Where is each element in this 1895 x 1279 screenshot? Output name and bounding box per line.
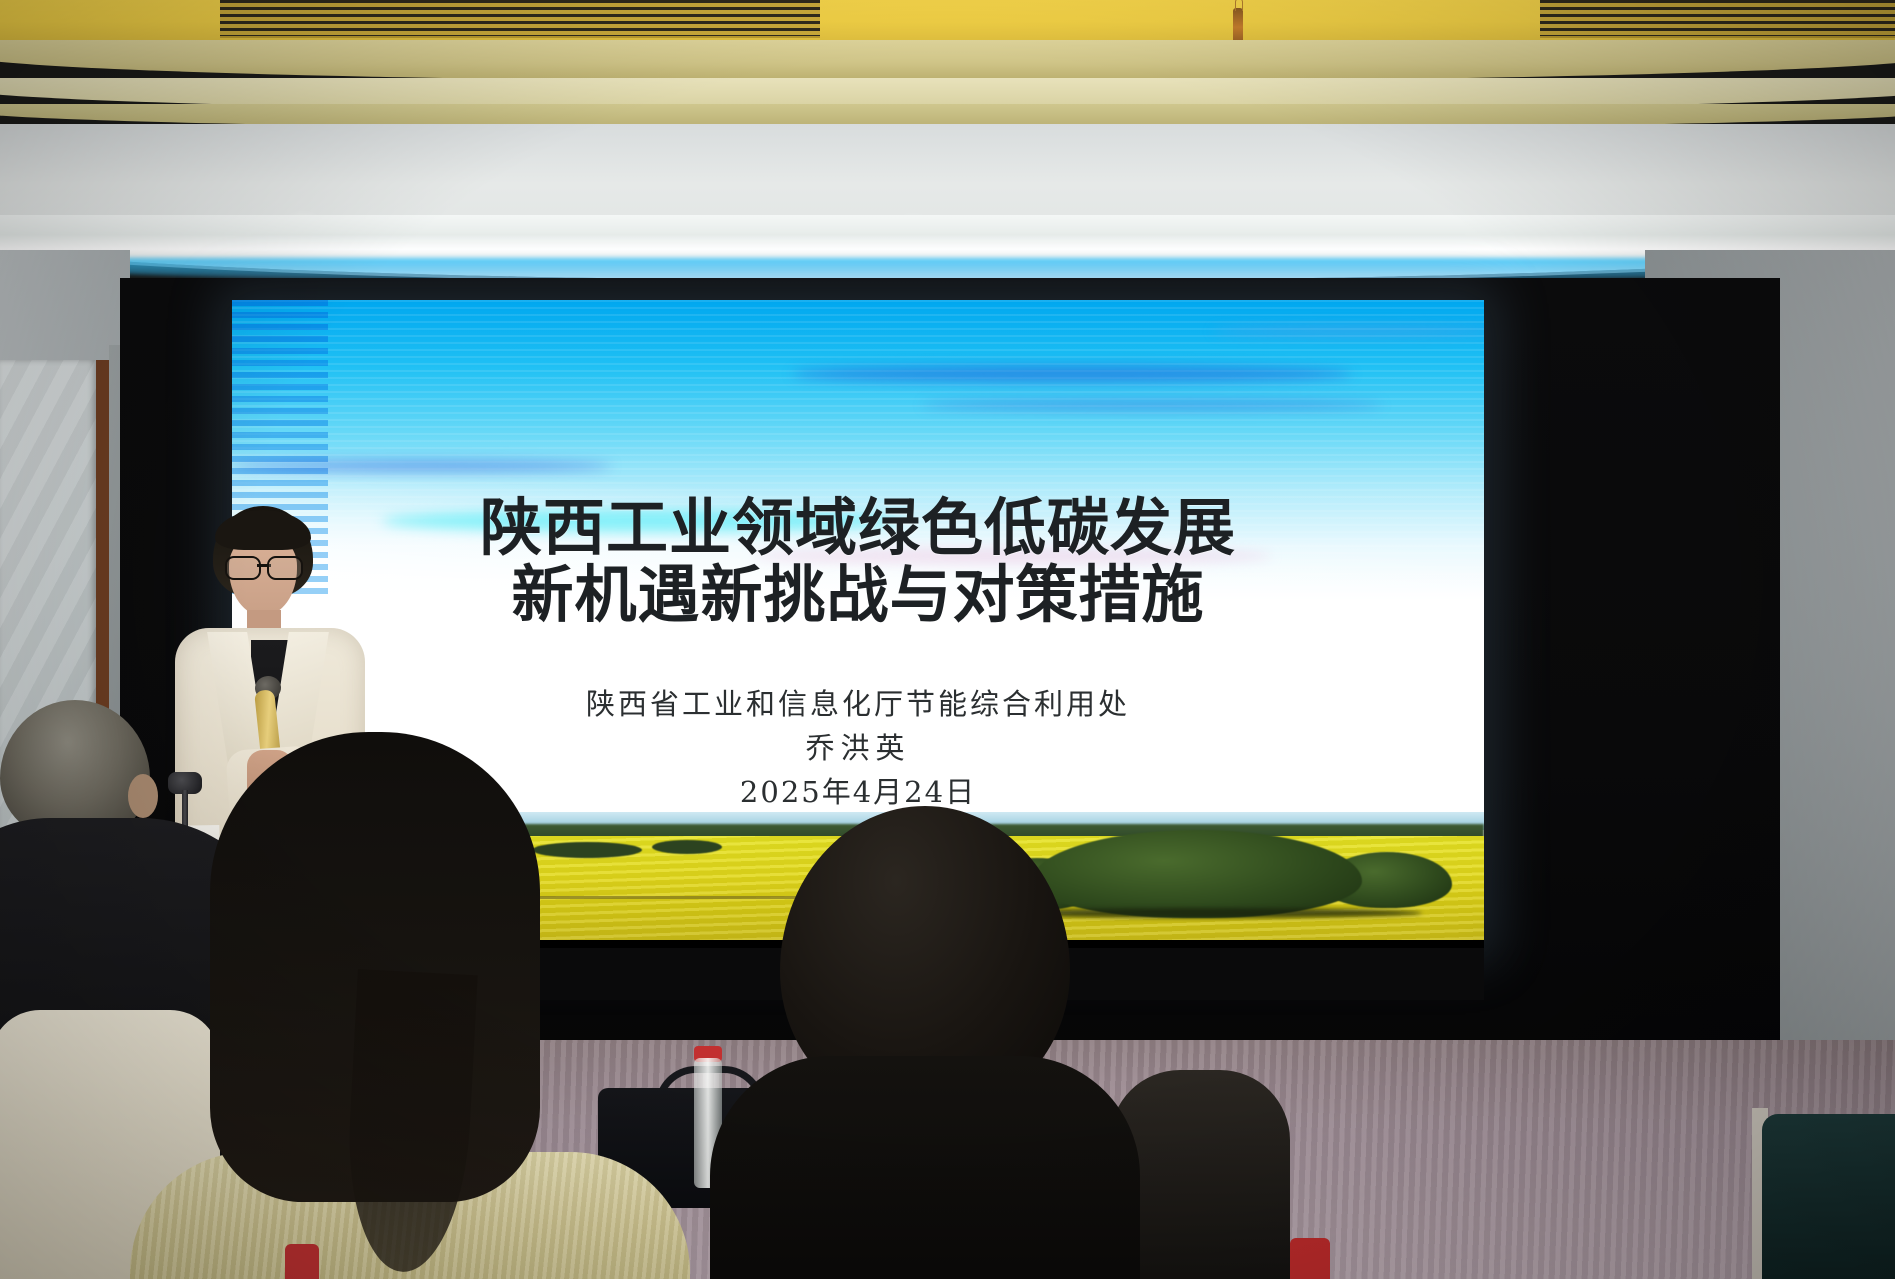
eyeglass-lens-right [267,556,303,580]
conference-room-photo: 陕西工业领域绿色低碳发展 新机遇新挑战与对策措施 陕西省工业和信息化厅节能综合利… [0,0,1895,1279]
slide-title: 陕西工业领域绿色低碳发展 新机遇新挑战与对策措施 [232,496,1484,626]
presenter-fringe [215,510,311,550]
cloud-wisp [792,366,1352,382]
water-bottle-red [285,1244,319,1279]
cloud-wisp [1212,326,1484,336]
slide-title-line-1: 陕西工业领域绿色低碳发展 [232,496,1484,559]
slide-organization: 陕西省工业和信息化厅节能综合利用处 [232,682,1484,726]
water-bottle-red [1290,1238,1330,1279]
air-vent-icon [1540,0,1895,38]
ceiling-cove-band [0,40,1895,82]
conference-chair [1762,1114,1895,1279]
audience-member-silhouette [690,806,1160,1279]
eyeglass-lens-left [225,556,261,580]
eyeglasses-icon [225,556,303,576]
audience-body [710,1056,1140,1279]
audience-member-woman [150,732,670,1279]
air-vent-icon [220,0,820,38]
slide-title-line-2: 新机遇新挑战与对策措施 [232,563,1484,626]
cloud-wisp [922,400,1382,410]
